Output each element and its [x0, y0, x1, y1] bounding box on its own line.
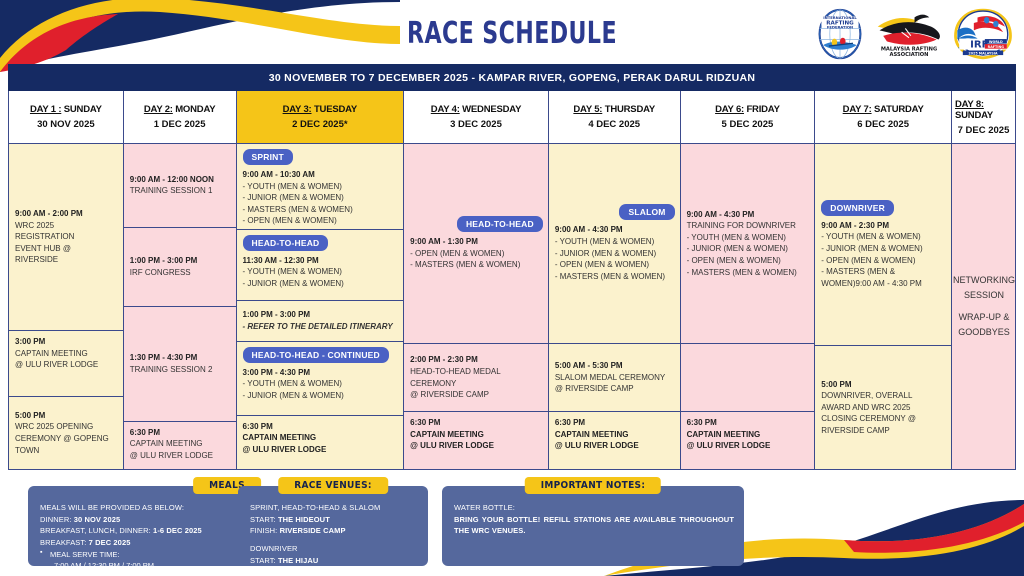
- event-time: CAPTAIN MEETING: [243, 432, 399, 444]
- event-detail: @ ULU RIVER LODGE: [130, 450, 231, 462]
- day-column-1: DAY 1 : SUNDAY30 NOV 20259:00 AM - 2:00 …: [9, 91, 124, 469]
- schedule-cell[interactable]: 1:00 PM - 3:00 PMIRF CONGRESS: [124, 228, 236, 307]
- event-detail: - OPEN (MEN & WOMEN): [555, 259, 675, 271]
- event-time: 9:00 AM - 12:00 NOON: [130, 174, 231, 186]
- day-column-3: DAY 3: TUESDAY2 DEC 2025*SPRINT9:00 AM -…: [237, 91, 405, 469]
- event-time: 9:00 AM - 10:30 AM: [243, 169, 399, 181]
- event-detail: GOODBYES: [958, 325, 1010, 340]
- event-detail: TRAINING FOR DOWNRIVER: [687, 220, 810, 232]
- schedule-cell[interactable]: [681, 344, 815, 413]
- day-body: 9:00 AM - 2:00 PMWRC 2025REGISTRATIONEVE…: [9, 144, 123, 469]
- day-date: 3 DEC 2025: [450, 119, 502, 130]
- event-time: CAPTAIN MEETING: [555, 429, 675, 441]
- day-date: 2 DEC 2025*: [292, 119, 347, 130]
- event-detail: DOWNRIVER, OVERALL: [821, 390, 946, 402]
- event-time: 5:00 AM - 5:30 PM: [555, 360, 675, 372]
- schedule-cell[interactable]: 1:00 PM - 3:00 PM- REFER TO THE DETAILED…: [237, 301, 404, 342]
- event-detail: - YOUTH (MEN & WOMEN): [821, 231, 946, 243]
- day-header-2[interactable]: DAY 2: MONDAY1 DEC 2025: [124, 91, 236, 144]
- day-name: DAY 5: THURSDAY: [573, 104, 655, 115]
- event-detail: WRC 2025: [15, 220, 118, 232]
- schedule-cell[interactable]: 9:00 AM - 2:00 PMWRC 2025REGISTRATIONEVE…: [9, 144, 123, 331]
- day-header-5[interactable]: DAY 5: THURSDAY4 DEC 2025: [549, 91, 680, 144]
- event-pill-wrap: HEAD-TO-HEAD: [243, 235, 399, 255]
- schedule-cell[interactable]: 6:30 PMCAPTAIN MEETING@ ULU RIVER LODGE: [681, 412, 815, 469]
- event-detail: CLOSING CEREMONY @: [821, 413, 946, 425]
- event-pill-wrap: DOWNRIVER: [821, 200, 946, 220]
- event-detail: CEREMONY: [410, 378, 543, 390]
- event-detail: - YOUTH (MEN & WOMEN): [555, 236, 675, 248]
- event-detail: - JUNIOR (MEN & WOMEN): [243, 192, 399, 204]
- info-box-title-important-notes: IMPORTANT NOTES:: [525, 477, 661, 494]
- event-time: @ ULU RIVER LODGE: [555, 440, 675, 452]
- event-category-badge: HEAD-TO-HEAD: [243, 235, 329, 251]
- event-time: 1:30 PM - 4:30 PM: [130, 352, 231, 364]
- international-rafting-federation-logo: INTERNATIONAL RAFTING FEDERATION: [812, 8, 868, 60]
- event-detail: SLALOM MEDAL CEREMONY: [555, 372, 675, 384]
- event-detail: - JUNIOR (MEN & WOMEN): [821, 243, 946, 255]
- day-column-7: DAY 7: SATURDAY6 DEC 2025DOWNRIVER9:00 A…: [815, 91, 952, 469]
- event-category-badge: HEAD-TO-HEAD: [457, 216, 543, 232]
- day-body: SPRINT9:00 AM - 10:30 AM- YOUTH (MEN & W…: [237, 144, 404, 469]
- day-name: DAY 4: WEDNESDAY: [431, 104, 521, 115]
- event-detail: - OPEN (MEN & WOMEN): [687, 255, 810, 267]
- day-header-4[interactable]: DAY 4: WEDNESDAY3 DEC 2025: [404, 91, 548, 144]
- event-time: 6:30 PM: [410, 417, 543, 429]
- event-detail: - OPEN (MEN & WOMEN): [410, 248, 543, 260]
- day-header-1[interactable]: DAY 1 : SUNDAY30 NOV 2025: [9, 91, 123, 144]
- event-time: 6:30 PM: [130, 427, 231, 439]
- event-detail: - JUNIOR (MEN & WOMEN): [243, 390, 399, 402]
- event-time: 3:00 PM - 4:30 PM: [243, 367, 399, 379]
- event-detail: TOWN: [15, 445, 118, 457]
- event-time: 3:00 PM: [15, 336, 118, 348]
- schedule-cell[interactable]: 5:00 PMWRC 2025 OPENINGCEREMONY @ GOPENG…: [9, 397, 123, 469]
- schedule-cell[interactable]: HEAD-TO-HEAD9:00 AM - 1:30 PM- OPEN (MEN…: [404, 144, 548, 344]
- day-body: 9:00 AM - 4:30 PMTRAINING FOR DOWNRIVER-…: [681, 144, 815, 469]
- day-column-4: DAY 4: WEDNESDAY3 DEC 2025HEAD-TO-HEAD9:…: [404, 91, 549, 469]
- event-pill-wrap: HEAD-TO-HEAD: [410, 216, 543, 236]
- event-detail: WRAP-UP &: [959, 310, 1010, 325]
- day-body: HEAD-TO-HEAD9:00 AM - 1:30 PM- OPEN (MEN…: [404, 144, 548, 469]
- event-detail: CEREMONY @ GOPENG: [15, 433, 118, 445]
- schedule-cell[interactable]: 6:30 PMCAPTAIN MEETING@ ULU RIVER LODGE: [124, 422, 236, 469]
- svg-text:FEDERATION: FEDERATION: [827, 25, 853, 29]
- event-detail: WRC 2025 OPENING: [15, 421, 118, 433]
- event-detail: IRF CONGRESS: [130, 267, 231, 279]
- day-name: DAY 1 : SUNDAY: [30, 104, 102, 115]
- svg-text:RAFTING: RAFTING: [988, 45, 1005, 49]
- info-line: START: THE HIJAU: [250, 555, 418, 567]
- event-detail: - MASTERS (MEN &: [821, 266, 946, 278]
- event-detail: TRAINING SESSION 2: [130, 364, 231, 376]
- day-header-7[interactable]: DAY 7: SATURDAY6 DEC 2025: [815, 91, 951, 144]
- schedule-cell[interactable]: 5:00 PMDOWNRIVER, OVERALLAWARD AND WRC 2…: [815, 346, 951, 469]
- event-detail: @ RIVERSIDE CAMP: [555, 383, 675, 395]
- info-line: SPRINT, HEAD-TO-HEAD & SLALOM: [250, 502, 418, 514]
- event-pill-wrap: SPRINT: [243, 149, 399, 169]
- logo-group: INTERNATIONAL RAFTING FEDERATION MALAYSI…: [812, 8, 1016, 60]
- day-header-6[interactable]: DAY 6: FRIDAY5 DEC 2025: [681, 91, 815, 144]
- day-column-8: DAY 8: SUNDAY7 DEC 2025NETWORKINGSESSION…: [952, 91, 1015, 469]
- event-detail: SESSION: [964, 288, 1004, 303]
- event-detail: WOMEN)9:00 AM - 4:30 PM: [821, 278, 946, 290]
- event-time: @ ULU RIVER LODGE: [687, 440, 810, 452]
- info-line: FINISH: MURNI CAMP: [250, 566, 418, 576]
- event-time: CAPTAIN MEETING: [687, 429, 810, 441]
- event-category-badge: SLALOM: [619, 204, 674, 220]
- event-detail: - YOUTH (MEN & WOMEN): [243, 181, 399, 193]
- event-time: 9:00 AM - 2:00 PM: [15, 208, 118, 220]
- event-detail: - REFER TO THE DETAILED ITINERARY: [243, 321, 399, 333]
- day-body: NETWORKINGSESSIONWRAP-UP &GOODBYES: [952, 144, 1015, 469]
- malaysia-rafting-association-logo: MALAYSIA RAFTING ASSOCIATION: [874, 8, 944, 60]
- day-body: 9:00 AM - 12:00 NOONTRAINING SESSION 11:…: [124, 144, 236, 469]
- irf-world-rafting-championship-logo: IRF WORLD RAFTING 2025 MALAYSIA: [950, 8, 1016, 60]
- info-line: BRING YOUR BOTTLE! REFILL STATIONS ARE A…: [454, 514, 734, 537]
- day-body: DOWNRIVER9:00 AM - 2:30 PM- YOUTH (MEN &…: [815, 144, 951, 469]
- info-line: FINISH: RIVERSIDE CAMP: [250, 525, 418, 537]
- event-detail: HEAD-TO-HEAD MEDAL: [410, 366, 543, 378]
- day-date: 1 DEC 2025: [154, 119, 206, 130]
- schedule-cell[interactable]: 2:00 PM - 2:30 PMHEAD-TO-HEAD MEDALCEREM…: [404, 344, 548, 413]
- schedule-cell[interactable]: 3:00 PMCAPTAIN MEETING@ ULU RIVER LODGE: [9, 331, 123, 397]
- schedule-cell[interactable]: DOWNRIVER9:00 AM - 2:30 PM- YOUTH (MEN &…: [815, 144, 951, 346]
- info-box-title-race-venues: RACE VENUES:: [278, 477, 388, 494]
- event-time: 5:00 PM: [821, 379, 946, 391]
- schedule-cell[interactable]: SLALOM9:00 AM - 4:30 PM- YOUTH (MEN & WO…: [549, 144, 680, 344]
- day-date: 6 DEC 2025: [857, 119, 909, 130]
- event-pill-wrap: HEAD-TO-HEAD - CONTINUED: [243, 347, 399, 367]
- event-time: 2:00 PM - 2:30 PM: [410, 354, 543, 366]
- schedule-cell[interactable]: 9:00 AM - 4:30 PMTRAINING FOR DOWNRIVER-…: [681, 144, 815, 344]
- event-detail: - MASTERS (MEN & WOMEN): [243, 204, 399, 216]
- event-time: 11:30 AM - 12:30 PM: [243, 255, 399, 267]
- day-date: 30 NOV 2025: [37, 119, 95, 130]
- event-time: 9:00 AM - 4:30 PM: [687, 209, 810, 221]
- event-detail: AWARD AND WRC 2025: [821, 402, 946, 414]
- event-pill-wrap: SLALOM: [555, 204, 675, 224]
- schedule-cell[interactable]: 6:30 PMCAPTAIN MEETING@ ULU RIVER LODGE: [237, 416, 404, 469]
- event-time: 9:00 AM - 2:30 PM: [821, 220, 946, 232]
- schedule-cell[interactable]: HEAD-TO-HEAD11:30 AM - 12:30 PM- YOUTH (…: [237, 230, 404, 301]
- event-category-badge: SPRINT: [243, 149, 293, 165]
- event-detail: - YOUTH (MEN & WOMEN): [243, 266, 399, 278]
- schedule-cell[interactable]: 6:30 PMCAPTAIN MEETING@ ULU RIVER LODGE: [549, 412, 680, 469]
- event-detail: @ ULU RIVER LODGE: [15, 359, 118, 371]
- day-header-8[interactable]: DAY 8: SUNDAY7 DEC 2025: [952, 91, 1015, 144]
- event-time: @ ULU RIVER LODGE: [410, 440, 543, 452]
- event-detail: - MASTERS (MEN & WOMEN): [410, 259, 543, 271]
- day-name: DAY 6: FRIDAY: [715, 104, 780, 115]
- schedule-cell[interactable]: 1:30 PM - 4:30 PMTRAINING SESSION 2: [124, 307, 236, 422]
- info-box-row: MEALSMEALS WILL BE PROVIDED AS BELOW:DIN…: [0, 478, 1024, 574]
- schedule-table: DAY 1 : SUNDAY30 NOV 20259:00 AM - 2:00 …: [8, 91, 1016, 470]
- race-schedule-page: RACE SCHEDULE INTERNATIONAL RAFTING FEDE…: [0, 0, 1024, 576]
- event-detail: CAPTAIN MEETING: [130, 438, 231, 450]
- event-time: @ ULU RIVER LODGE: [243, 444, 399, 456]
- info-box-important-notes: IMPORTANT NOTES:WATER BOTTLE:BRING YOUR …: [442, 486, 744, 566]
- day-name: DAY 2: MONDAY: [144, 104, 216, 115]
- event-time: 9:00 AM - 1:30 PM: [410, 236, 543, 248]
- day-date: 5 DEC 2025: [722, 119, 774, 130]
- event-detail: - OPEN (MEN & WOMEN): [821, 255, 946, 267]
- event-time: 6:30 PM: [243, 421, 399, 433]
- event-detail: @ RIVERSIDE CAMP: [410, 389, 543, 401]
- event-detail: CAPTAIN MEETING: [15, 348, 118, 360]
- day-name: DAY 7: SATURDAY: [843, 104, 924, 115]
- page-title: RACE SCHEDULE: [92, 16, 932, 51]
- event-detail: - MASTERS (MEN & WOMEN): [687, 267, 810, 279]
- event-category-badge: DOWNRIVER: [821, 200, 894, 216]
- svg-text:ASSOCIATION: ASSOCIATION: [890, 52, 929, 58]
- event-time: CAPTAIN MEETING: [410, 429, 543, 441]
- schedule-cell[interactable]: NETWORKINGSESSIONWRAP-UP &GOODBYES: [952, 144, 1015, 469]
- event-time: 1:00 PM - 3:00 PM: [130, 255, 231, 267]
- event-detail: - YOUTH (MEN & WOMEN): [687, 232, 810, 244]
- event-time: 5:00 PM: [15, 410, 118, 422]
- schedule-cell[interactable]: SPRINT9:00 AM - 10:30 AM- YOUTH (MEN & W…: [237, 144, 404, 230]
- event-detail: EVENT HUB @: [15, 243, 118, 255]
- event-detail: NETWORKING: [953, 273, 1015, 288]
- schedule-cell[interactable]: HEAD-TO-HEAD - CONTINUED3:00 PM - 4:30 P…: [237, 342, 404, 416]
- info-line: WATER BOTTLE:: [454, 502, 734, 514]
- day-name: DAY 8: SUNDAY: [955, 99, 1012, 121]
- event-detail: - JUNIOR (MEN & WOMEN): [243, 278, 399, 290]
- date-location-banner: 30 NOVEMBER TO 7 DECEMBER 2025 - KAMPAR …: [8, 64, 1016, 91]
- event-detail: REGISTRATION: [15, 231, 118, 243]
- day-name: DAY 3: TUESDAY: [283, 104, 357, 115]
- event-detail: RIVERSIDE CAMP: [821, 425, 946, 437]
- schedule-cell[interactable]: 5:00 AM - 5:30 PMSLALOM MEDAL CEREMONY@ …: [549, 344, 680, 413]
- event-detail: - JUNIOR (MEN & WOMEN): [687, 243, 810, 255]
- svg-text:2025 MALAYSIA: 2025 MALAYSIA: [968, 51, 997, 55]
- event-detail: - OPEN (MEN & WOMEN): [243, 215, 399, 227]
- event-detail: - MASTERS (MEN & WOMEN): [555, 271, 675, 283]
- schedule-cell[interactable]: 6:30 PMCAPTAIN MEETING@ ULU RIVER LODGE: [404, 412, 548, 469]
- day-column-2: DAY 2: MONDAY1 DEC 20259:00 AM - 12:00 N…: [124, 91, 237, 469]
- event-time: 1:00 PM - 3:00 PM: [243, 309, 399, 321]
- event-time: 6:30 PM: [555, 417, 675, 429]
- event-detail: TRAINING SESSION 1: [130, 185, 231, 197]
- day-column-6: DAY 6: FRIDAY5 DEC 20259:00 AM - 4:30 PM…: [681, 91, 816, 469]
- svg-text:WORLD: WORLD: [989, 40, 1003, 44]
- event-detail: - YOUTH (MEN & WOMEN): [243, 378, 399, 390]
- day-header-3[interactable]: DAY 3: TUESDAY2 DEC 2025*: [237, 91, 404, 144]
- day-column-5: DAY 5: THURSDAY4 DEC 2025SLALOM9:00 AM -…: [549, 91, 681, 469]
- event-detail: RIVERSIDE: [15, 254, 118, 266]
- info-line: START: THE HIDEOUT: [250, 514, 418, 526]
- event-category-badge: HEAD-TO-HEAD - CONTINUED: [243, 347, 389, 363]
- info-line: DOWNRIVER: [250, 543, 418, 555]
- day-body: SLALOM9:00 AM - 4:30 PM- YOUTH (MEN & WO…: [549, 144, 680, 469]
- schedule-cell[interactable]: 9:00 AM - 12:00 NOONTRAINING SESSION 1: [124, 144, 236, 228]
- event-time: 9:00 AM - 4:30 PM: [555, 224, 675, 236]
- event-time: 6:30 PM: [687, 417, 810, 429]
- day-date: 7 DEC 2025: [958, 125, 1010, 136]
- day-date: 4 DEC 2025: [588, 119, 640, 130]
- event-detail: - JUNIOR (MEN & WOMEN): [555, 248, 675, 260]
- info-box-race-venues: RACE VENUES:SPRINT, HEAD-TO-HEAD & SLALO…: [238, 486, 428, 566]
